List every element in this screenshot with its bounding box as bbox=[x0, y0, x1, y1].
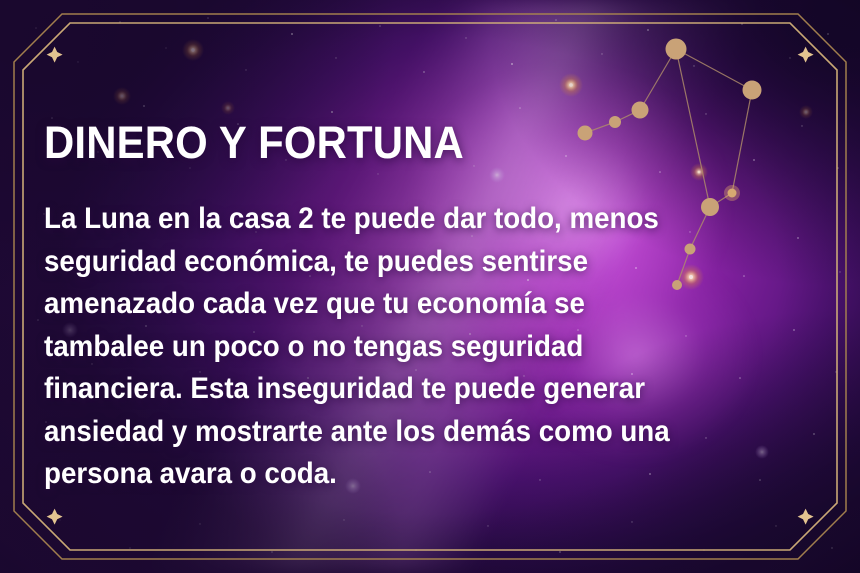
body-copy: La Luna en la casa 2 te puede dar todo, … bbox=[44, 198, 762, 496]
card-content: DINERO Y FORTUNA La Luna en la casa 2 te… bbox=[40, 0, 820, 573]
body-line: tambalee un poco o no tengas seguridad bbox=[44, 326, 762, 369]
body-line: financiera. Esta inseguridad te puede ge… bbox=[44, 368, 762, 411]
body-line: La Luna en la casa 2 te puede dar todo, … bbox=[44, 198, 762, 241]
body-line: persona avara o coda. bbox=[44, 453, 762, 496]
body-line: seguridad económica, te puedes sentirse bbox=[44, 241, 762, 284]
page-title: DINERO Y FORTUNA bbox=[44, 120, 464, 165]
body-line: ansiedad y mostrarte ante los demás como… bbox=[44, 411, 762, 454]
body-line: amenazado cada vez que tu economía se bbox=[44, 283, 762, 326]
horoscope-card: DINERO Y FORTUNA La Luna en la casa 2 te… bbox=[0, 0, 860, 573]
